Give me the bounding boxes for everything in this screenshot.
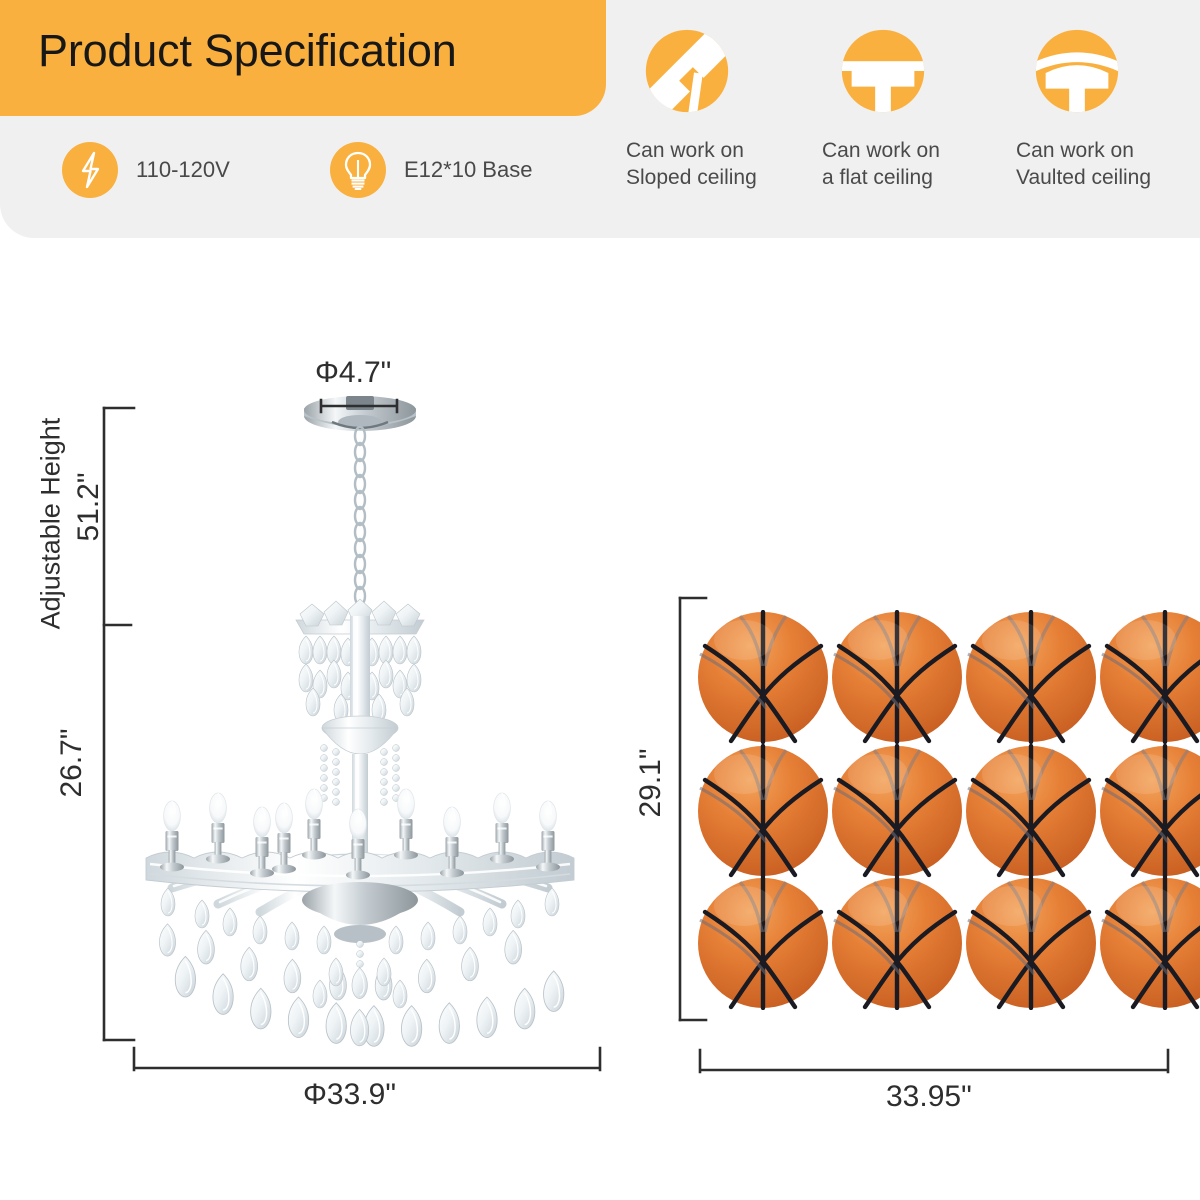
ceiling-option-flat-text: Can work on a flat ceiling <box>822 137 1020 191</box>
light-bulb-icon <box>330 142 386 198</box>
fixture-height-label: 26.7" <box>55 703 89 823</box>
lightning-bolt-icon <box>62 142 118 198</box>
vaulted-ceiling-icon <box>1028 22 1126 120</box>
spec-voltage: 110-120V <box>62 142 230 198</box>
ceiling-option-sloped-text: Can work on Sloped ceiling <box>626 137 824 191</box>
product-specification-page: Product Specification 110-120V <box>0 0 1200 1200</box>
spec-bulb-base-label: E12*10 Base <box>404 157 532 183</box>
fixture-diameter-label: Φ33.9" <box>303 1078 396 1112</box>
spec-bulb-base: E12*10 Base <box>330 142 532 198</box>
header-panel: Product Specification 110-120V <box>0 0 1200 238</box>
ceiling-flat-line2: a flat ceiling <box>822 164 1020 191</box>
ceiling-option-sloped: Can work on Sloped ceiling <box>624 22 824 191</box>
ceiling-flat-line1: Can work on <box>822 137 1020 164</box>
ceiling-vaulted-line2: Vaulted ceiling <box>1016 164 1200 191</box>
comparison-height-label: 29.1" <box>634 723 668 843</box>
dimension-lines <box>0 238 1200 1200</box>
page-title: Product Specification <box>38 25 457 77</box>
comparison-width-label: 33.95" <box>886 1080 972 1114</box>
sloped-ceiling-icon <box>638 22 736 120</box>
ceiling-option-vaulted: Can work on Vaulted ceiling <box>1014 22 1200 191</box>
flat-ceiling-icon <box>834 22 932 120</box>
spec-voltage-label: 110-120V <box>136 157 230 183</box>
ceiling-sloped-line2: Sloped ceiling <box>626 164 824 191</box>
chain-height-label: 51.2" <box>72 447 106 567</box>
ceiling-sloped-line1: Can work on <box>626 137 824 164</box>
canopy-diameter-label: Φ4.7" <box>315 356 391 390</box>
ceiling-vaulted-line1: Can work on <box>1016 137 1200 164</box>
dimension-diagram: Φ4.7" Adjustable Height 51.2" 26.7" Φ33.… <box>0 238 1200 1200</box>
adjustable-height-label: Adjustable Height <box>36 409 67 639</box>
ceiling-option-vaulted-text: Can work on Vaulted ceiling <box>1016 137 1200 191</box>
ceiling-option-flat: Can work on a flat ceiling <box>820 22 1020 191</box>
